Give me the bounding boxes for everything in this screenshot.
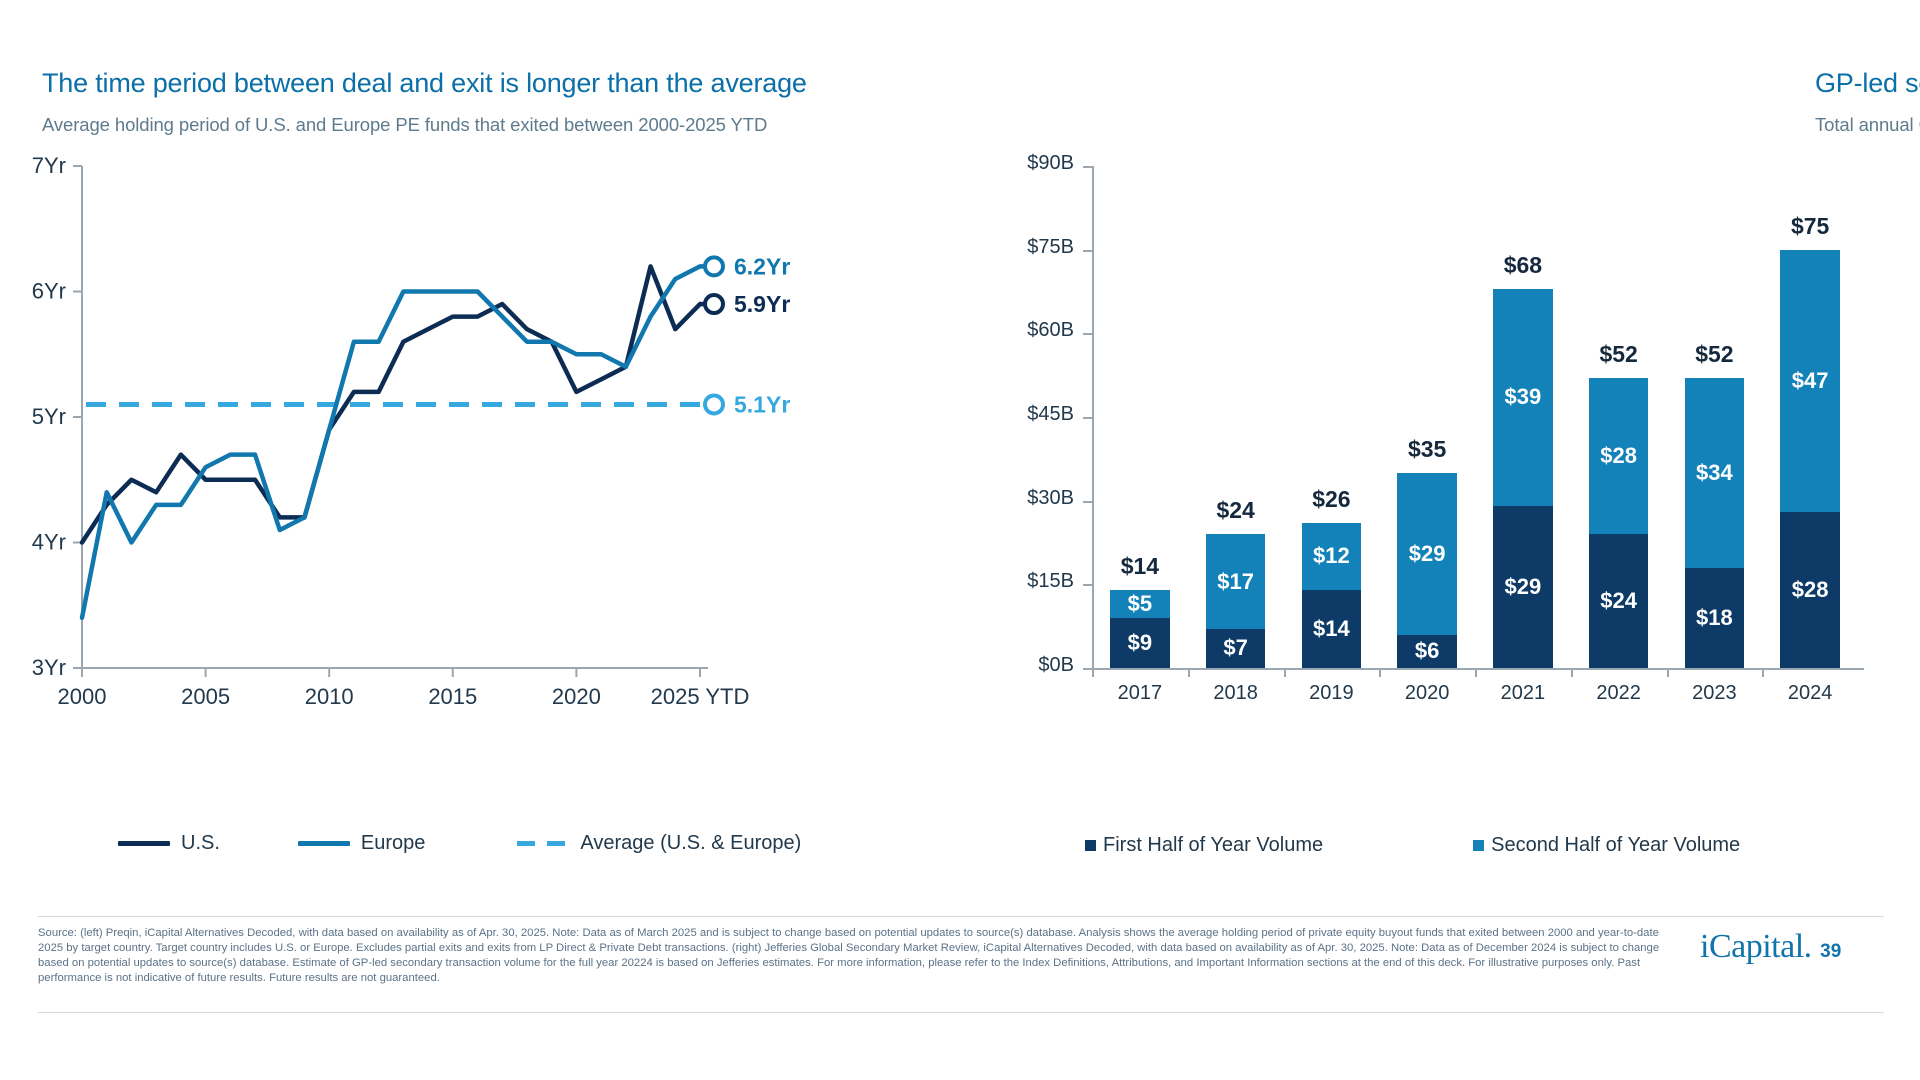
holding-period-line-chart: 3Yr4Yr5Yr6Yr7Yr200020052010201520202025 … (30, 160, 930, 780)
bar-segment-second-half[interactable]: $39 (1493, 289, 1552, 507)
bar-group[interactable]: $29$39 (1493, 289, 1552, 668)
end-label-us: 5.9Yr (734, 291, 790, 317)
end-label-europe: 6.2Yr (734, 253, 790, 279)
bar-total-label: $68 (1463, 252, 1583, 279)
bar-value-first-half: $29 (1493, 574, 1552, 600)
bar-segment-first-half[interactable]: $14 (1302, 590, 1361, 668)
bar-value-second-half: $47 (1780, 368, 1839, 394)
bar-total-label: $35 (1367, 436, 1487, 463)
x-tick (1667, 668, 1669, 677)
bar-value-second-half: $29 (1397, 541, 1456, 567)
legend-swatch-square (1085, 840, 1096, 851)
left-chart-legend: U.S.EuropeAverage (U.S. & Europe) (118, 832, 801, 855)
x-tick (1475, 668, 1477, 677)
line-chart-canvas: 3Yr4Yr5Yr6Yr7Yr200020052010201520202025 … (30, 160, 930, 780)
x-axis-line (1092, 668, 1864, 670)
left-panel: The time period between deal and exit is… (0, 0, 960, 900)
bar-group[interactable]: $6$29 (1397, 473, 1456, 668)
legend-swatch-square (1473, 840, 1484, 851)
right-panel-title: GP-led secondaries offer a path to liqui… (1815, 68, 1920, 99)
bar-value-first-half: $7 (1206, 635, 1265, 661)
y-axis-label: 5Yr (32, 404, 66, 429)
y-axis-label: $0B (974, 654, 1074, 677)
bar-segment-second-half[interactable]: $12 (1302, 523, 1361, 590)
bar-group[interactable]: $14$12 (1302, 523, 1361, 668)
bar-segment-second-half[interactable]: $34 (1685, 378, 1744, 568)
y-tick (1083, 417, 1092, 419)
bar-value-first-half: $14 (1302, 616, 1361, 642)
footer-source-text: Source: (left) Preqin, iCapital Alternat… (38, 926, 1678, 986)
bar-segment-second-half[interactable]: $29 (1397, 473, 1456, 635)
y-tick (1083, 668, 1092, 670)
bar-segment-first-half[interactable]: $9 (1110, 618, 1169, 668)
y-axis-label: $60B (974, 319, 1074, 342)
y-axis-label: $45B (974, 403, 1074, 426)
legend-label: U.S. (181, 832, 220, 855)
bar-value-first-half: $9 (1110, 630, 1169, 656)
y-tick (1083, 584, 1092, 586)
bar-segment-first-half[interactable]: $18 (1685, 568, 1744, 668)
bar-total-label: $14 (1080, 553, 1200, 580)
legend-label: Europe (361, 832, 426, 855)
x-axis-label: 2000 (58, 684, 107, 709)
bar-segment-second-half[interactable]: $47 (1780, 250, 1839, 512)
bar-group[interactable]: $7$17 (1206, 534, 1265, 668)
x-axis-label: 2020 (552, 684, 601, 709)
legend-item-second-half-of-year-volume[interactable]: Second Half of Year Volume (1473, 834, 1740, 857)
x-axis-label: 2024 (1750, 682, 1870, 705)
end-marker-average (705, 395, 723, 413)
x-tick (1571, 668, 1573, 677)
y-tick (1083, 333, 1092, 335)
bar-value-second-half: $5 (1110, 591, 1169, 617)
legend-swatch-line (298, 841, 350, 846)
left-panel-title: The time period between deal and exit is… (42, 68, 807, 99)
legend-item-average-u-s-europe[interactable]: Average (U.S. & Europe) (517, 832, 801, 855)
bar-group[interactable]: $28$47 (1780, 250, 1839, 668)
x-tick (1092, 668, 1094, 677)
icapital-logo: iCapital . 39 (1700, 928, 1841, 966)
x-tick (1762, 668, 1764, 677)
legend-swatch-dashed-line (517, 841, 569, 846)
bar-total-label: $26 (1271, 486, 1391, 513)
y-axis-label: $15B (974, 570, 1074, 593)
y-axis-label: $75B (974, 236, 1074, 259)
y-tick (1083, 501, 1092, 503)
bar-segment-first-half[interactable]: $24 (1589, 534, 1648, 668)
y-axis-label: 6Yr (32, 279, 66, 304)
y-axis-label: $30B (974, 487, 1074, 510)
legend-item-europe[interactable]: Europe (298, 832, 426, 855)
bar-value-second-half: $39 (1493, 384, 1552, 410)
y-tick (1083, 166, 1092, 168)
bar-value-first-half: $24 (1589, 588, 1648, 614)
series-line-europe (82, 266, 700, 617)
bar-value-first-half: $18 (1685, 605, 1744, 631)
x-axis-label: 2005 (181, 684, 230, 709)
x-axis-label: 2015 (428, 684, 477, 709)
bar-value-first-half: $6 (1397, 638, 1456, 664)
bar-segment-first-half[interactable]: $7 (1206, 629, 1265, 668)
legend-swatch-line (118, 841, 170, 846)
right-chart-legend: First Half of Year VolumeSecond Half of … (1085, 834, 1740, 857)
bar-group[interactable]: $18$34 (1685, 378, 1744, 668)
right-panel-subtitle: Total annual GP-led secondary transactio… (1815, 114, 1920, 136)
left-panel-subtitle: Average holding period of U.S. and Europ… (42, 114, 767, 136)
bar-segment-first-half[interactable]: $28 (1780, 512, 1839, 668)
end-marker-us (705, 295, 723, 313)
bar-segment-second-half[interactable]: $28 (1589, 378, 1648, 534)
bar-group[interactable]: $9$5 (1110, 590, 1169, 668)
bar-value-second-half: $34 (1685, 460, 1744, 486)
y-axis-label: $90B (974, 152, 1074, 175)
bar-group[interactable]: $24$28 (1589, 378, 1648, 668)
bar-segment-second-half[interactable]: $5 (1110, 590, 1169, 618)
x-tick (1284, 668, 1286, 677)
bar-total-label: $52 (1654, 341, 1774, 368)
y-tick (1083, 250, 1092, 252)
y-axis-line (1092, 166, 1094, 668)
y-axis-label: 3Yr (32, 655, 66, 680)
bar-segment-first-half[interactable]: $29 (1493, 506, 1552, 668)
y-axis-label: 4Yr (32, 530, 66, 555)
legend-item-first-half-of-year-volume[interactable]: First Half of Year Volume (1085, 834, 1323, 857)
legend-label: Second Half of Year Volume (1491, 834, 1740, 857)
bar-value-second-half: $28 (1589, 443, 1648, 469)
legend-label: Average (U.S. & Europe) (580, 832, 801, 855)
bar-segment-second-half[interactable]: $17 (1206, 534, 1265, 629)
bar-segment-first-half[interactable]: $6 (1397, 635, 1456, 668)
y-axis-label: 7Yr (32, 153, 66, 178)
gp-led-volume-bar-chart: $0B$15B$30B$45B$60B$75B$90B$9$5$142017$7… (1000, 160, 1880, 780)
page-number: 39 (1820, 941, 1841, 963)
end-label-average: 5.1Yr (734, 391, 790, 417)
x-tick (1188, 668, 1190, 677)
bar-value-second-half: $17 (1206, 569, 1265, 595)
footer-divider-top (38, 916, 1884, 917)
logo-wordmark: iCapital (1700, 928, 1804, 966)
logo-period: . (1804, 928, 1813, 966)
bar-value-second-half: $12 (1302, 543, 1361, 569)
x-axis-label: 2010 (305, 684, 354, 709)
bar-value-first-half: $28 (1780, 577, 1839, 603)
x-axis-label: 2025 YTD (651, 684, 750, 709)
end-marker-europe (705, 257, 723, 275)
footer-divider-bottom (38, 1012, 1884, 1013)
bar-total-label: $75 (1750, 213, 1870, 240)
legend-label: First Half of Year Volume (1103, 834, 1323, 857)
x-tick (1379, 668, 1381, 677)
legend-item-u-s[interactable]: U.S. (118, 832, 220, 855)
slide: The time period between deal and exit is… (0, 0, 1920, 1080)
